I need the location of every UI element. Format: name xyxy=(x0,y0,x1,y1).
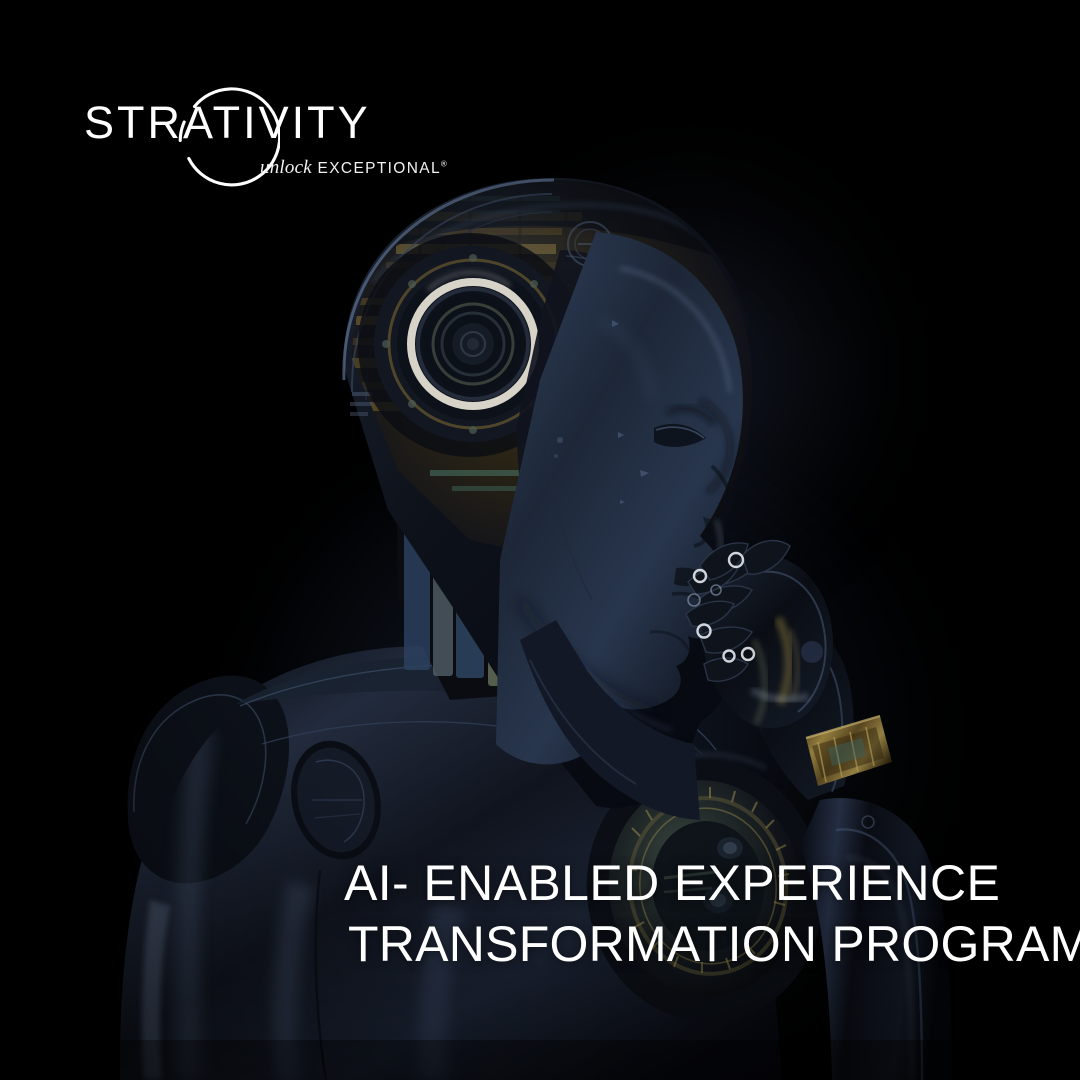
brand-logo[interactable]: STRATIVITY unlock EXCEPTIONAL® xyxy=(78,86,458,196)
headline-line-2: TRANSFORMATION PROGRAM xyxy=(348,919,1044,970)
headline-block: AI- ENABLED EXPERIENCE TRANSFORMATION PR… xyxy=(344,858,1044,970)
logo-tagline: unlock EXCEPTIONAL® xyxy=(260,158,447,177)
poster-canvas: STRATIVITY unlock EXCEPTIONAL® AI- ENABL… xyxy=(0,0,1080,1080)
tagline-exceptional: EXCEPTIONAL xyxy=(312,160,441,177)
headline-line-1: AI- ENABLED EXPERIENCE xyxy=(344,858,1044,909)
tagline-unlock: unlock xyxy=(260,157,312,178)
registered-trademark-icon: ® xyxy=(441,160,447,169)
logo-wordmark: STRATIVITY xyxy=(84,100,371,145)
